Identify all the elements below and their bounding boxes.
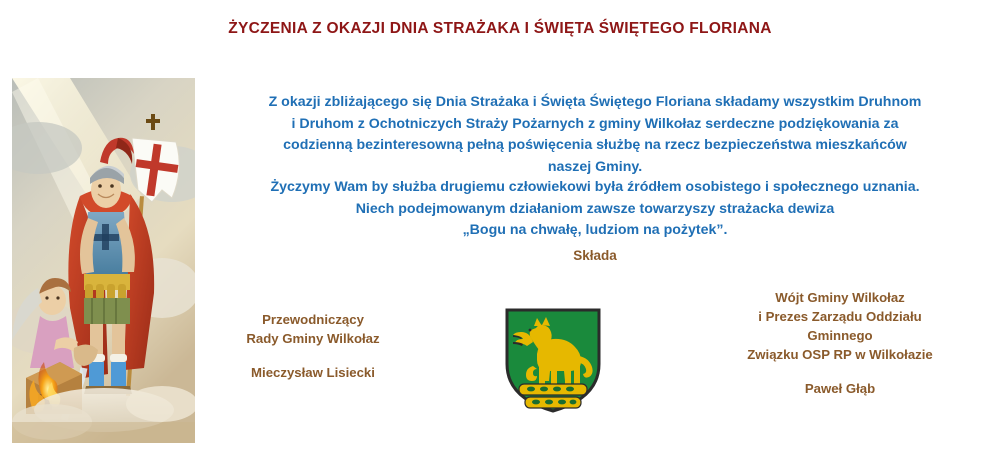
signature-right-title-line: Związku OSP RP w Wilkołazie xyxy=(690,345,990,364)
signature-left-title-line: Przewodniczący xyxy=(198,310,428,329)
page-title: ŻYCZENIA Z OKAZJI DNIA STRAŻAKA I ŚWIĘTA… xyxy=(0,20,1000,38)
greeting-line: Z okazji zbliżającego się Dnia Strażaka … xyxy=(200,92,990,114)
signature-right-title-line: Wójt Gminy Wilkołaz xyxy=(690,288,990,307)
signature-left-title-line: Rady Gminy Wilkołaz xyxy=(198,329,428,348)
skalda-label: Składa xyxy=(200,248,990,263)
greeting-body: Z okazji zbliżającego się Dnia Strażaka … xyxy=(200,92,990,178)
signature-right-name: Paweł Głąb xyxy=(690,379,990,398)
motto-quote: „Bogu na chwałę, ludziom na pożytek”. xyxy=(200,220,990,242)
motto-line: Niech podejmowanym działaniom zawsze tow… xyxy=(200,199,990,221)
greeting-line: naszej Gminy. xyxy=(200,157,990,179)
greeting-line: i Druhom z Ochotniczych Straży Pożarnych… xyxy=(200,114,990,136)
coat-of-arms-shield xyxy=(503,306,603,414)
motto-body: Życzymy Wam by służba drugiemu człowieko… xyxy=(200,177,990,242)
signature-left-name: Mieczysław Lisiecki xyxy=(198,363,428,382)
signature-right-title-line: i Prezes Zarządu Oddziału xyxy=(690,307,990,326)
motto-line: Życzymy Wam by służba drugiemu człowieko… xyxy=(200,177,990,199)
spacer xyxy=(690,364,990,379)
greeting-line: codzienną bezinteresowną pełną poświęcen… xyxy=(200,135,990,157)
signature-left: Przewodniczący Rady Gminy Wilkołaz Miecz… xyxy=(198,310,428,382)
coat-of-arms-wilkolaz xyxy=(503,306,603,414)
saint-florian-painting xyxy=(12,78,195,443)
saint-florian-illustration xyxy=(12,78,195,443)
spacer xyxy=(198,348,428,363)
signature-right: Wójt Gminy Wilkołaz i Prezes Zarządu Odd… xyxy=(690,288,990,398)
signature-right-title-line: Gminnego xyxy=(690,326,990,345)
